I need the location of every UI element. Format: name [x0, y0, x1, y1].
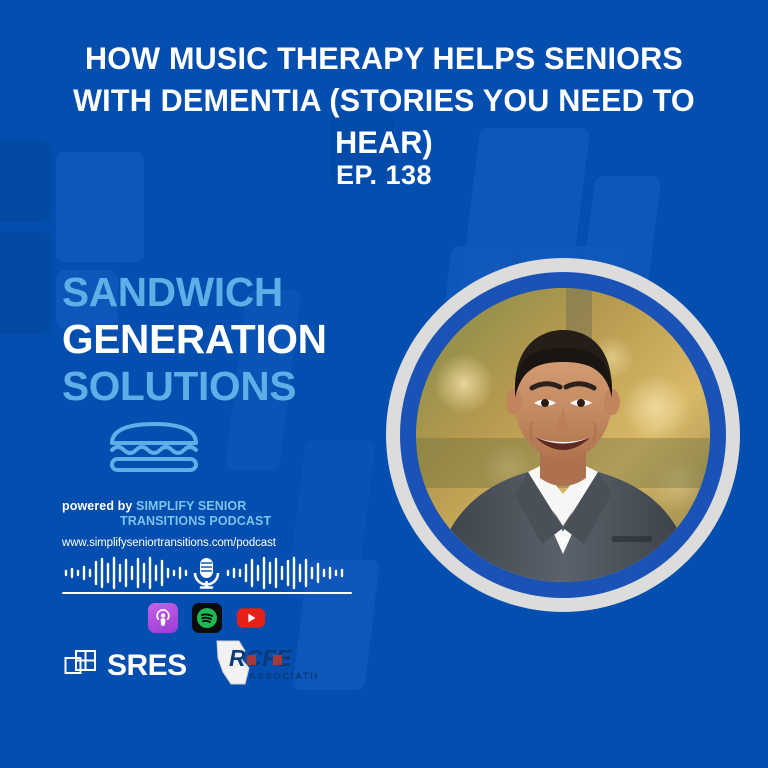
brand-line-generation: GENERATION	[62, 319, 359, 359]
sres-logo: SRES	[64, 649, 187, 683]
audio-waveform	[62, 556, 352, 590]
podcast-cover-art: HOW MUSIC THERAPY HELPS SENIORS WITH DEM…	[0, 0, 768, 768]
rcfe-label: RCFE	[229, 645, 292, 671]
brand-line-solutions: SOLUTIONS	[62, 366, 359, 406]
avatar-outer-ring	[386, 258, 740, 612]
rcfe-sublabel: ASSOCIATION	[249, 671, 317, 682]
brand-block: SANDWICH GENERATION SOLUTIONS powered by…	[62, 272, 362, 549]
powered-by-line: powered by SIMPLIFY SENIOR	[62, 498, 362, 515]
microphone-icon	[195, 558, 218, 588]
website-url[interactable]: www.simplifyseniortransitions.com/podcas…	[62, 537, 362, 549]
host-portrait	[416, 288, 710, 582]
apple-podcasts-icon[interactable]	[148, 603, 178, 633]
avatar-inner-ring	[400, 272, 726, 598]
episode-number: EP. 138	[0, 160, 768, 191]
sres-label: SRES	[107, 649, 187, 683]
podcast-name-line2: TRANSITIONS PODCAST	[120, 514, 362, 528]
sandwich-icon	[106, 421, 362, 478]
platform-links	[62, 603, 352, 633]
certification-logos: SRES RCFE ASSOCIATION	[64, 638, 317, 693]
podcast-name-line1: SIMPLIFY SENIOR	[136, 499, 246, 513]
powered-by-prefix: powered by	[62, 499, 132, 513]
brand-line-sandwich: SANDWICH	[62, 272, 359, 312]
page-title: HOW MUSIC THERAPY HELPS SENIORS WITH DEM…	[12, 38, 757, 164]
sres-mark-icon	[64, 649, 98, 683]
listen-block	[62, 556, 352, 633]
youtube-icon[interactable]	[236, 603, 266, 633]
title-block: HOW MUSIC THERAPY HELPS SENIORS WITH DEM…	[0, 38, 768, 164]
rcfe-association-logo: RCFE ASSOCIATION	[209, 638, 317, 693]
divider	[62, 592, 352, 594]
spotify-icon[interactable]	[192, 603, 222, 633]
